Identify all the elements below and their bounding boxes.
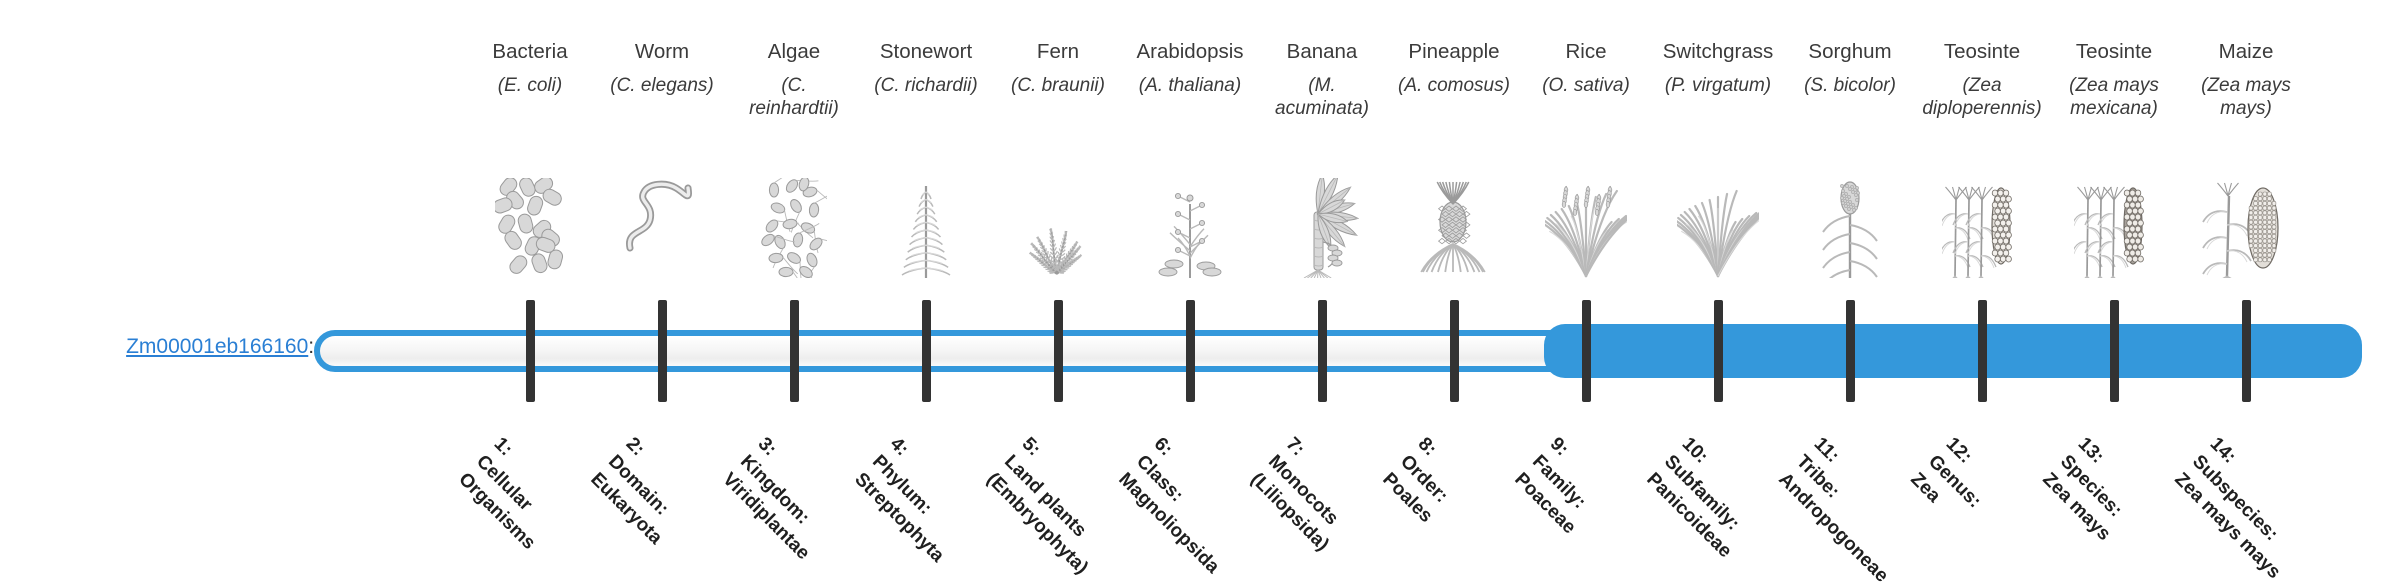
- species-column-stonewort-3: Stonewort(C. richardii): [866, 40, 986, 97]
- stratum-tick-1: [526, 300, 535, 402]
- species-column-worm-1: Worm(C. elegans): [602, 40, 722, 97]
- algae-icon: [734, 178, 854, 283]
- stratum-label-8: 8:Order:Poales: [1377, 432, 1473, 528]
- species-common-name: Maize: [2186, 40, 2306, 64]
- phylostratum-figure: Zm00001eb166160: Phylostratum 9 Bacteria…: [0, 0, 2400, 580]
- species-common-name: Sorghum: [1790, 40, 1910, 64]
- switchgrass-icon: [1658, 178, 1778, 283]
- species-latin-name: (Zea diploperennis): [1922, 74, 2042, 120]
- species-column-pineapple-7: Pineapple(A. comosus): [1394, 40, 1514, 97]
- species-column-switchgrass-9: Switchgrass(P. virgatum): [1658, 40, 1778, 97]
- species-column-banana-6: Banana(M. acuminata): [1262, 40, 1382, 120]
- pineapple-icon: [1394, 178, 1514, 283]
- species-latin-name: (C. braunii): [998, 74, 1118, 97]
- gene-id-link[interactable]: Zm00001eb166160: [126, 335, 308, 358]
- stratum-label-5: 5:Land plants(Embryophyta): [981, 432, 1129, 580]
- stratum-tick-8: [1450, 300, 1459, 402]
- stratum-label-3: 3:Kingdom:Viridiplantae: [717, 432, 850, 565]
- fern-icon: [998, 178, 1118, 283]
- species-latin-name: (P. virgatum): [1658, 74, 1778, 97]
- maize-icon: [2186, 178, 2306, 283]
- stratum-tick-6: [1186, 300, 1195, 402]
- stratum-tick-4: [922, 300, 931, 402]
- species-common-name: Arabidopsis: [1130, 40, 1250, 64]
- stratum-tick-12: [1978, 300, 1987, 402]
- worm-icon: [602, 178, 722, 283]
- stratum-label-13: 13:Species:Zea mays: [2037, 432, 2151, 546]
- stratum-tick-13: [2110, 300, 2119, 402]
- species-common-name: Rice: [1526, 40, 1646, 64]
- banana-icon: [1262, 178, 1382, 283]
- species-column-bacteria-0: Bacteria(E. coli): [470, 40, 590, 97]
- species-common-name: Switchgrass: [1658, 40, 1778, 64]
- species-column-maize-13: Maize(Zea mays mays): [2186, 40, 2306, 120]
- stratum-tick-5: [1054, 300, 1063, 402]
- arabidopsis-icon: [1130, 178, 1250, 283]
- species-common-name: Banana: [1262, 40, 1382, 64]
- sorghum-icon: [1790, 178, 1910, 283]
- stratum-tick-10: [1714, 300, 1723, 402]
- species-column-teosinte-12: Teosinte(Zea mays mexicana): [2054, 40, 2174, 120]
- stratum-label-2: 2:Domain:Eukaryota: [585, 432, 703, 550]
- stratum-label-4: 4:Phylum:Streptophyta: [849, 432, 985, 568]
- stratum-label-12: 12:Genus:Zea: [1905, 432, 2004, 531]
- species-column-sorghum-10: Sorghum(S. bicolor): [1790, 40, 1910, 97]
- species-latin-name: (C. richardii): [866, 74, 986, 97]
- species-common-name: Pineapple: [1394, 40, 1514, 64]
- stratum-label-6: 6:Class:Magnoliopsida: [1113, 432, 1260, 579]
- stratum-label-7: 7:Monocots(Liliopsida): [1245, 432, 1370, 557]
- species-common-name: Fern: [998, 40, 1118, 64]
- stratum-label-10: 10:Subfamily:Panicoideae: [1641, 432, 1772, 563]
- species-common-name: Teosinte: [2054, 40, 2174, 64]
- stratum-tick-3: [790, 300, 799, 402]
- species-latin-name: (Zea mays mays): [2186, 74, 2306, 120]
- stratum-tick-7: [1318, 300, 1327, 402]
- species-column-teosinte-11: Teosinte(Zea diploperennis): [1922, 40, 2042, 120]
- species-latin-name: (E. coli): [470, 74, 590, 97]
- stratum-label-14: 14:Subspecies:Zea mays mays: [2169, 432, 2321, 584]
- species-common-name: Algae: [734, 40, 854, 64]
- species-latin-name: (M. acuminata): [1262, 74, 1382, 120]
- stratum-tick-11: [1846, 300, 1855, 402]
- species-column-arabidopsis-5: Arabidopsis(A. thaliana): [1130, 40, 1250, 97]
- species-latin-name: (A. thaliana): [1130, 74, 1250, 97]
- species-latin-name: (C. reinhardtii): [734, 74, 854, 120]
- species-latin-name: (O. sativa): [1526, 74, 1646, 97]
- bacteria-icon: [470, 178, 590, 283]
- stratum-tick-2: [658, 300, 667, 402]
- species-column-rice-8: Rice(O. sativa): [1526, 40, 1646, 97]
- species-latin-name: (C. elegans): [602, 74, 722, 97]
- rice-icon: [1526, 178, 1646, 283]
- stratum-tick-14: [2242, 300, 2251, 402]
- species-latin-name: (Zea mays mexicana): [2054, 74, 2174, 120]
- progress-fill: [1544, 324, 2362, 378]
- teosinte-mexicana-icon: [2054, 178, 2174, 283]
- species-column-fern-4: Fern(C. braunii): [998, 40, 1118, 97]
- stratum-label-11: 11:Tribe:Andropogoneae: [1773, 432, 1929, 588]
- stratum-label-9: 9:Family:Poaceae: [1509, 432, 1617, 540]
- stonewort-icon: [866, 178, 986, 283]
- species-common-name: Stonewort: [866, 40, 986, 64]
- species-latin-name: (S. bicolor): [1790, 74, 1910, 97]
- species-latin-name: (A. comosus): [1394, 74, 1514, 97]
- stratum-tick-9: [1582, 300, 1591, 402]
- species-column-algae-2: Algae(C. reinhardtii): [734, 40, 854, 120]
- teosinte-diplo-icon: [1922, 178, 2042, 283]
- stratum-label-1: 1:CellularOrganisms: [453, 432, 576, 555]
- phylostratum-progress-bar[interactable]: [314, 330, 2356, 372]
- species-common-name: Worm: [602, 40, 722, 64]
- species-common-name: Bacteria: [470, 40, 590, 64]
- species-common-name: Teosinte: [1922, 40, 2042, 64]
